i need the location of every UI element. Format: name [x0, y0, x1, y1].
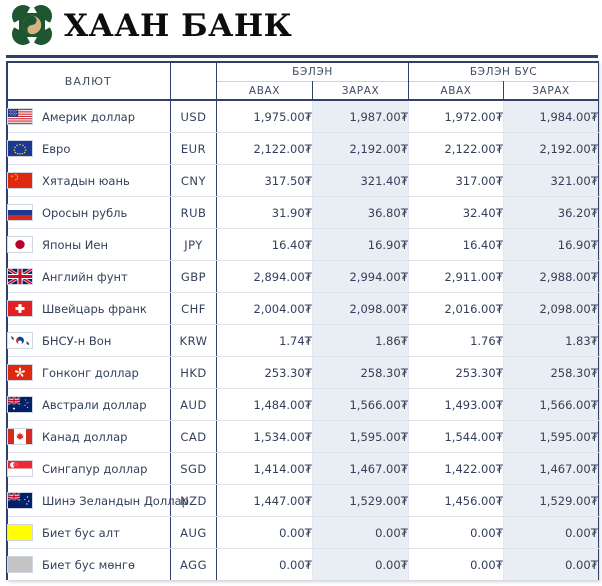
- table-row: Гонконг долларHKD253.30₮258.30₮253.30₮25…: [7, 357, 599, 389]
- page-title: ХААН БАНК: [64, 6, 292, 46]
- cash-buy-cell: 16.40₮: [217, 229, 313, 261]
- currency-name: Английн фунт: [42, 270, 128, 284]
- currency-code-cell: USD: [171, 100, 217, 133]
- currency-name: Австрали доллар: [42, 398, 147, 412]
- header-divider: [6, 55, 598, 58]
- noncash-sell-cell: 16.90₮: [504, 229, 599, 261]
- table-row: Америк долларUSD1,975.00₮1,987.00₮1,972.…: [7, 100, 599, 133]
- noncash-buy-cell: 0.00₮: [409, 549, 504, 581]
- noncash-sell-cell: 2,192.00₮: [504, 133, 599, 165]
- cash-buy-cell: 1.74₮: [217, 325, 313, 357]
- exchange-rate-table: ВАЛЮТ БЭЛЭН БЭЛЭН БУС АВАХ ЗАРАХ АВАХ ЗА…: [6, 61, 599, 580]
- cash-buy-cell: 317.50₮: [217, 165, 313, 197]
- exchange-rate-table-container: ВАЛЮТ БЭЛЭН БЭЛЭН БУС АВАХ ЗАРАХ АВАХ ЗА…: [6, 61, 598, 580]
- noncash-buy-cell: 32.40₮: [409, 197, 504, 229]
- noncash-buy-cell: 1.76₮: [409, 325, 504, 357]
- flag-sg-icon: [7, 460, 33, 477]
- flag-gb-icon: [7, 268, 33, 285]
- table-row: Японы ИенJPY16.40₮16.90₮16.40₮16.90₮: [7, 229, 599, 261]
- currency-code-cell: EUR: [171, 133, 217, 165]
- cash-sell-cell: 1.86₮: [313, 325, 409, 357]
- currency-cell: БНСУ-н Вон: [7, 325, 171, 357]
- currency-cell: Биет бус мөнгө: [7, 549, 171, 581]
- flag-kr-icon: [7, 332, 33, 349]
- flag-us-icon: [7, 108, 33, 125]
- currency-cell: Сингапур доллар: [7, 453, 171, 485]
- table-row: ЕвроEUR2,122.00₮2,192.00₮2,122.00₮2,192.…: [7, 133, 599, 165]
- currency-name: Шинэ Зеландын Доллар: [42, 494, 189, 508]
- cash-buy-cell: 2,004.00₮: [217, 293, 313, 325]
- noncash-sell-cell: 321.00₮: [504, 165, 599, 197]
- noncash-sell-cell: 1,566.00₮: [504, 389, 599, 421]
- page-header: ХААН БАНК: [0, 0, 602, 52]
- column-header-cash-buy: АВАХ: [217, 82, 313, 101]
- currency-name: Биет бус мөнгө: [42, 558, 135, 572]
- swatch-gold-icon: [7, 524, 33, 541]
- noncash-buy-cell: 1,493.00₮: [409, 389, 504, 421]
- table-row: Шинэ Зеландын ДолларNZD1,447.00₮1,529.00…: [7, 485, 599, 517]
- flag-cn-icon: [7, 172, 33, 189]
- currency-cell: Америк доллар: [7, 100, 171, 133]
- flag-ch-icon: [7, 300, 33, 317]
- noncash-sell-cell: 2,098.00₮: [504, 293, 599, 325]
- currency-cell: Гонконг доллар: [7, 357, 171, 389]
- noncash-sell-cell: 1,595.00₮: [504, 421, 599, 453]
- currency-name: Сингапур доллар: [42, 462, 147, 476]
- noncash-buy-cell: 1,456.00₮: [409, 485, 504, 517]
- table-row: Биет бус мөнгөAGG0.00₮0.00₮0.00₮0.00₮: [7, 549, 599, 581]
- cash-buy-cell: 0.00₮: [217, 549, 313, 581]
- currency-name: Биет бус алт: [42, 526, 120, 540]
- currency-code-cell: CAD: [171, 421, 217, 453]
- currency-cell: Швейцарь франк: [7, 293, 171, 325]
- currency-name: Швейцарь франк: [42, 302, 147, 316]
- currency-name: Канад доллар: [42, 430, 127, 444]
- noncash-buy-cell: 1,972.00₮: [409, 100, 504, 133]
- cash-sell-cell: 16.90₮: [313, 229, 409, 261]
- flag-jp-icon: [7, 236, 33, 253]
- table-head: ВАЛЮТ БЭЛЭН БЭЛЭН БУС АВАХ ЗАРАХ АВАХ ЗА…: [7, 62, 599, 100]
- noncash-buy-cell: 2,016.00₮: [409, 293, 504, 325]
- currency-name: Америк доллар: [42, 110, 135, 124]
- flag-ca-icon: [7, 428, 33, 445]
- currency-name: Евро: [42, 142, 70, 156]
- column-header-noncash-group: БЭЛЭН БУС: [409, 62, 599, 82]
- cash-sell-cell: 0.00₮: [313, 517, 409, 549]
- table-row: Биет бус алтAUG0.00₮0.00₮0.00₮0.00₮: [7, 517, 599, 549]
- column-header-noncash-buy: АВАХ: [409, 82, 504, 101]
- noncash-buy-cell: 16.40₮: [409, 229, 504, 261]
- currency-cell: Оросын рубль: [7, 197, 171, 229]
- cash-buy-cell: 1,447.00₮: [217, 485, 313, 517]
- cash-buy-cell: 1,414.00₮: [217, 453, 313, 485]
- table-row: Оросын рубльRUB31.90₮36.80₮32.40₮36.20₮: [7, 197, 599, 229]
- table-row: Хятадын юаньCNY317.50₮321.40₮317.00₮321.…: [7, 165, 599, 197]
- cash-buy-cell: 253.30₮: [217, 357, 313, 389]
- cash-buy-cell: 2,122.00₮: [217, 133, 313, 165]
- cash-sell-cell: 2,098.00₮: [313, 293, 409, 325]
- table-body: Америк долларUSD1,975.00₮1,987.00₮1,972.…: [7, 100, 599, 580]
- currency-code-cell: RUB: [171, 197, 217, 229]
- table-row: Австрали долларAUD1,484.00₮1,566.00₮1,49…: [7, 389, 599, 421]
- currency-name: Японы Иен: [42, 238, 108, 252]
- currency-name: Оросын рубль: [42, 206, 127, 220]
- cash-sell-cell: 1,566.00₮: [313, 389, 409, 421]
- flag-hk-icon: [7, 364, 33, 381]
- noncash-buy-cell: 1,544.00₮: [409, 421, 504, 453]
- table-head-group-row: ВАЛЮТ БЭЛЭН БЭЛЭН БУС: [7, 62, 599, 82]
- flag-ru-icon: [7, 204, 33, 221]
- cash-sell-cell: 36.80₮: [313, 197, 409, 229]
- cash-sell-cell: 321.40₮: [313, 165, 409, 197]
- column-header-currency: ВАЛЮТ: [7, 62, 171, 100]
- cash-buy-cell: 1,975.00₮: [217, 100, 313, 133]
- cash-sell-cell: 1,529.00₮: [313, 485, 409, 517]
- column-header-code: [171, 62, 217, 100]
- noncash-buy-cell: 253.30₮: [409, 357, 504, 389]
- table-row: Швейцарь франкCHF2,004.00₮2,098.00₮2,016…: [7, 293, 599, 325]
- cash-sell-cell: 1,467.00₮: [313, 453, 409, 485]
- cash-buy-cell: 0.00₮: [217, 517, 313, 549]
- cash-sell-cell: 1,987.00₮: [313, 100, 409, 133]
- currency-cell: Австрали доллар: [7, 389, 171, 421]
- table-row: Английн фунтGBP2,894.00₮2,994.00₮2,911.0…: [7, 261, 599, 293]
- table-row: БНСУ-н ВонKRW1.74₮1.86₮1.76₮1.83₮: [7, 325, 599, 357]
- currency-cell: Шинэ Зеландын Доллар: [7, 485, 171, 517]
- khan-bank-logo-icon: [9, 3, 55, 47]
- swatch-silver-icon: [7, 556, 33, 573]
- currency-cell: Английн фунт: [7, 261, 171, 293]
- noncash-buy-cell: 0.00₮: [409, 517, 504, 549]
- cash-buy-cell: 2,894.00₮: [217, 261, 313, 293]
- noncash-buy-cell: 317.00₮: [409, 165, 504, 197]
- column-header-noncash-sell: ЗАРАХ: [504, 82, 599, 101]
- cash-buy-cell: 1,484.00₮: [217, 389, 313, 421]
- flag-nz-icon: [7, 492, 33, 509]
- currency-code-cell: HKD: [171, 357, 217, 389]
- currency-name: Хятадын юань: [42, 174, 130, 188]
- currency-cell: Японы Иен: [7, 229, 171, 261]
- currency-cell: Канад доллар: [7, 421, 171, 453]
- currency-name: Гонконг доллар: [42, 366, 139, 380]
- currency-code-cell: AGG: [171, 549, 217, 581]
- noncash-buy-cell: 1,422.00₮: [409, 453, 504, 485]
- flag-au-icon: [7, 396, 33, 413]
- currency-code-cell: AUG: [171, 517, 217, 549]
- cash-sell-cell: 0.00₮: [313, 549, 409, 581]
- cash-sell-cell: 2,994.00₮: [313, 261, 409, 293]
- currency-code-cell: GBP: [171, 261, 217, 293]
- currency-cell: Биет бус алт: [7, 517, 171, 549]
- cash-buy-cell: 1,534.00₮: [217, 421, 313, 453]
- noncash-sell-cell: 1,529.00₮: [504, 485, 599, 517]
- currency-code-cell: KRW: [171, 325, 217, 357]
- currency-code-cell: JPY: [171, 229, 217, 261]
- currency-code-cell: SGD: [171, 453, 217, 485]
- currency-code-cell: CHF: [171, 293, 217, 325]
- cash-buy-cell: 31.90₮: [217, 197, 313, 229]
- table-row: Сингапур долларSGD1,414.00₮1,467.00₮1,42…: [7, 453, 599, 485]
- cash-sell-cell: 1,595.00₮: [313, 421, 409, 453]
- noncash-buy-cell: 2,122.00₮: [409, 133, 504, 165]
- currency-cell: Хятадын юань: [7, 165, 171, 197]
- noncash-sell-cell: 1,467.00₮: [504, 453, 599, 485]
- noncash-sell-cell: 0.00₮: [504, 549, 599, 581]
- currency-name: БНСУ-н Вон: [42, 334, 111, 348]
- cash-sell-cell: 258.30₮: [313, 357, 409, 389]
- currency-cell: Евро: [7, 133, 171, 165]
- flag-eu-icon: [7, 140, 33, 157]
- column-header-cash-group: БЭЛЭН: [217, 62, 409, 82]
- noncash-sell-cell: 0.00₮: [504, 517, 599, 549]
- exchange-rate-page: ХААН БАНК ВАЛЮТ БЭЛЭН БЭЛЭН БУС: [0, 0, 602, 586]
- noncash-sell-cell: 1,984.00₮: [504, 100, 599, 133]
- currency-code-cell: AUD: [171, 389, 217, 421]
- noncash-sell-cell: 36.20₮: [504, 197, 599, 229]
- cash-sell-cell: 2,192.00₮: [313, 133, 409, 165]
- noncash-sell-cell: 258.30₮: [504, 357, 599, 389]
- table-row: Канад долларCAD1,534.00₮1,595.00₮1,544.0…: [7, 421, 599, 453]
- noncash-buy-cell: 2,911.00₮: [409, 261, 504, 293]
- currency-code-cell: CNY: [171, 165, 217, 197]
- noncash-sell-cell: 1.83₮: [504, 325, 599, 357]
- column-header-cash-sell: ЗАРАХ: [313, 82, 409, 101]
- noncash-sell-cell: 2,988.00₮: [504, 261, 599, 293]
